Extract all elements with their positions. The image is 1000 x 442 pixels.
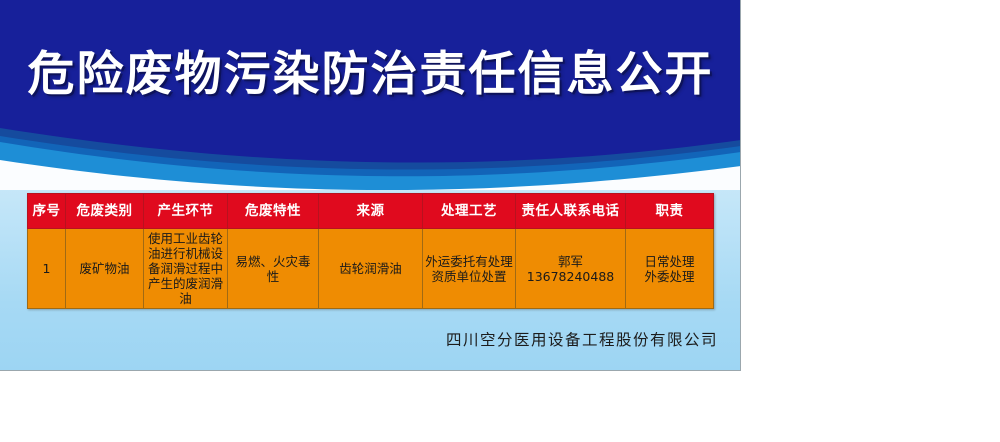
cell-duty: 日常处理 外委处理 xyxy=(626,229,714,309)
contact-person-name: 郭军 xyxy=(518,254,623,269)
duty-line-2: 外委处理 xyxy=(628,269,711,284)
duty-line-1: 日常处理 xyxy=(628,254,711,269)
cell-category: 废矿物油 xyxy=(66,229,144,309)
cell-seq: 1 xyxy=(28,229,66,309)
cell-process: 外运委托有处理资质单位处置 xyxy=(423,229,516,309)
information-disclosure-poster: 危险废物污染防治责任信息公开 序号 危废类别 产生环节 危废特性 来源 处理工艺… xyxy=(0,0,741,371)
cell-stage: 使用工业齿轮油进行机械设备润滑过程中产生的废润滑油 xyxy=(144,229,228,309)
contact-phone-number: 13678240488 xyxy=(518,269,623,284)
cell-source: 齿轮润滑油 xyxy=(319,229,423,309)
page-title: 危险废物污染防治责任信息公开 xyxy=(0,48,741,102)
table-body: 1 废矿物油 使用工业齿轮油进行机械设备润滑过程中产生的废润滑油 易燃、火灾毒性… xyxy=(28,229,714,309)
column-header-seq: 序号 xyxy=(28,194,66,229)
table-row: 1 废矿物油 使用工业齿轮油进行机械设备润滑过程中产生的废润滑油 易燃、火灾毒性… xyxy=(28,229,714,309)
column-header-stage: 产生环节 xyxy=(144,194,228,229)
column-header-process: 处理工艺 xyxy=(423,194,516,229)
hazardous-waste-table: 序号 危废类别 产生环节 危废特性 来源 处理工艺 责任人联系电话 职责 1 废… xyxy=(27,193,714,309)
table-header-row: 序号 危废类别 产生环节 危废特性 来源 处理工艺 责任人联系电话 职责 xyxy=(28,194,714,229)
header-banner: 危险废物污染防治责任信息公开 xyxy=(0,0,741,190)
column-header-property: 危废特性 xyxy=(228,194,319,229)
column-header-contact: 责任人联系电话 xyxy=(516,194,626,229)
column-header-category: 危废类别 xyxy=(66,194,144,229)
company-name-footer: 四川空分医用设备工程股份有限公司 xyxy=(0,328,718,350)
cell-property: 易燃、火灾毒性 xyxy=(228,229,319,309)
column-header-duty: 职责 xyxy=(626,194,714,229)
cell-contact: 郭军 13678240488 xyxy=(516,229,626,309)
column-header-source: 来源 xyxy=(319,194,423,229)
table-header-row-group: 序号 危废类别 产生环节 危废特性 来源 处理工艺 责任人联系电话 职责 xyxy=(28,194,714,229)
